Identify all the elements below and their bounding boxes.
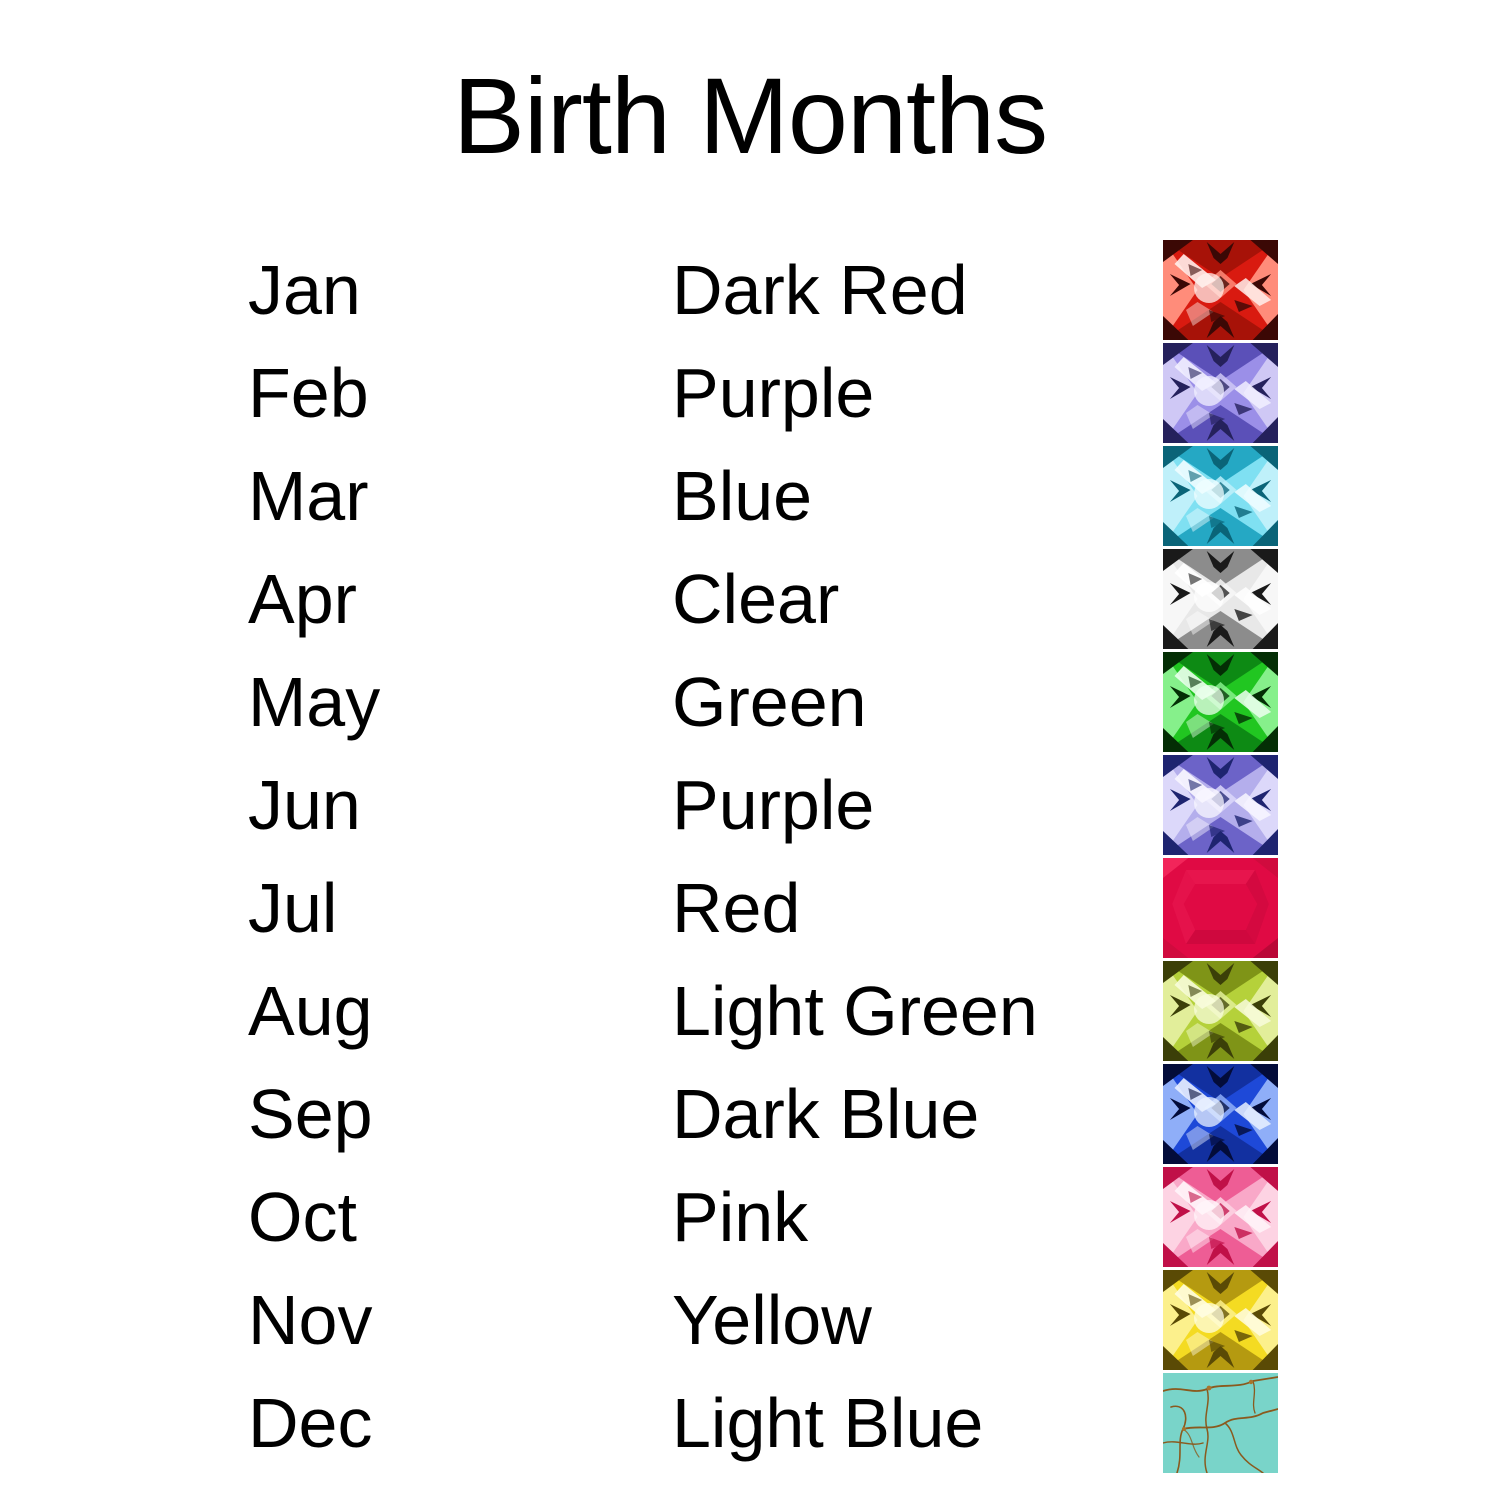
table-row: NovYellow xyxy=(0,1268,1500,1371)
color-label: Yellow xyxy=(672,1268,872,1371)
emerald-gem-svg xyxy=(1163,652,1278,752)
alexandrite-gem xyxy=(1163,753,1278,856)
color-label: Pink xyxy=(672,1165,808,1268)
alexandrite-gem-svg xyxy=(1163,755,1278,855)
aquamarine-gem-svg xyxy=(1163,446,1278,546)
month-label: Oct xyxy=(248,1165,357,1268)
month-label: Aug xyxy=(248,959,373,1062)
table-row: DecLight Blue xyxy=(0,1371,1500,1474)
birth-months-page: Birth Months JanDark RedFebPurpleMarBlue… xyxy=(0,0,1500,1500)
month-label: Jun xyxy=(248,753,361,856)
color-label: Light Blue xyxy=(672,1371,983,1474)
garnet-gem-svg xyxy=(1163,240,1278,340)
color-label: Purple xyxy=(672,753,874,856)
emerald-gem xyxy=(1163,650,1278,753)
garnet-gem xyxy=(1163,238,1278,341)
color-label: Dark Blue xyxy=(672,1062,979,1165)
turquoise-gem xyxy=(1163,1371,1278,1474)
diamond-gem-svg xyxy=(1163,549,1278,649)
color-label: Purple xyxy=(672,341,874,444)
table-row: JanDark Red xyxy=(0,238,1500,341)
month-label: Feb xyxy=(248,341,369,444)
table-row: OctPink xyxy=(0,1165,1500,1268)
color-label: Light Green xyxy=(672,959,1038,1062)
diamond-gem xyxy=(1163,547,1278,650)
citrine-gem xyxy=(1163,1268,1278,1371)
ruby-gem xyxy=(1163,856,1278,959)
color-label: Red xyxy=(672,856,800,959)
amethyst-gem xyxy=(1163,341,1278,444)
tourmaline-gem-svg xyxy=(1163,1167,1278,1267)
tourmaline-gem xyxy=(1163,1165,1278,1268)
table-row: FebPurple xyxy=(0,341,1500,444)
month-label: Dec xyxy=(248,1371,372,1474)
color-label: Clear xyxy=(672,547,839,650)
birth-months-table: JanDark RedFebPurpleMarBlueAprClearMayGr… xyxy=(0,238,1500,1474)
month-label: Jul xyxy=(248,856,337,959)
ruby-gem-svg xyxy=(1163,858,1278,958)
table-row: MarBlue xyxy=(0,444,1500,547)
aquamarine-gem xyxy=(1163,444,1278,547)
table-row: MayGreen xyxy=(0,650,1500,753)
color-label: Blue xyxy=(672,444,812,547)
month-label: Apr xyxy=(248,547,357,650)
color-label: Green xyxy=(672,650,867,753)
table-row: AugLight Green xyxy=(0,959,1500,1062)
table-row: AprClear xyxy=(0,547,1500,650)
table-row: JunPurple xyxy=(0,753,1500,856)
month-label: May xyxy=(248,650,380,753)
citrine-gem-svg xyxy=(1163,1270,1278,1370)
month-label: Jan xyxy=(248,238,361,341)
table-row: JulRed xyxy=(0,856,1500,959)
peridot-gem xyxy=(1163,959,1278,1062)
amethyst-gem-svg xyxy=(1163,343,1278,443)
month-label: Nov xyxy=(248,1268,372,1371)
turquoise-gem-svg xyxy=(1163,1373,1278,1473)
color-label: Dark Red xyxy=(672,238,968,341)
peridot-gem-svg xyxy=(1163,961,1278,1061)
month-label: Sep xyxy=(248,1062,373,1165)
sapphire-gem-svg xyxy=(1163,1064,1278,1164)
month-label: Mar xyxy=(248,444,369,547)
page-title: Birth Months xyxy=(0,62,1500,170)
sapphire-gem xyxy=(1163,1062,1278,1165)
table-row: SepDark Blue xyxy=(0,1062,1500,1165)
